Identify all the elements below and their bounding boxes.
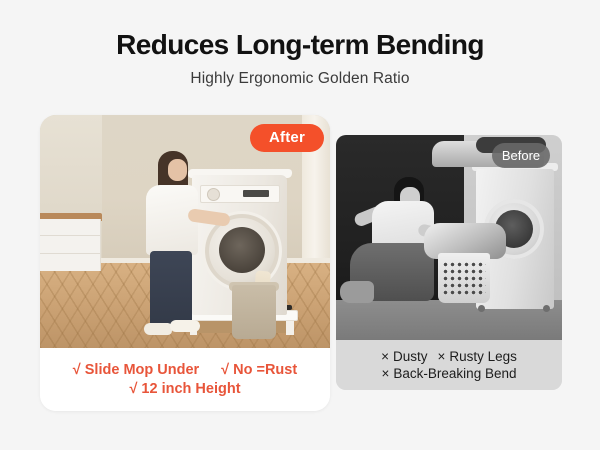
person-shoe (340, 281, 374, 303)
after-badge: After (250, 124, 324, 152)
cabinet-seam (40, 235, 100, 236)
page-title: Reduces Long-term Bending (0, 28, 600, 62)
rusty-leg-left (478, 305, 485, 312)
before-drawback-3: Back-Breaking Bend (393, 366, 516, 381)
cross-icon: × (437, 349, 445, 364)
rusty-leg-right (543, 305, 550, 312)
dial-knob (207, 188, 220, 201)
before-drawback-1: Dusty (393, 349, 428, 364)
after-caption-line-1: √ Slide Mop Under √ No =Rust (73, 362, 297, 378)
washer-drum (219, 227, 265, 273)
laundry-basket (232, 285, 276, 339)
person-face (168, 159, 187, 181)
person-pants (150, 251, 192, 327)
after-card: √ Slide Mop Under √ No =Rust √ 12 inch H… (40, 115, 330, 411)
kitchen-cabinet (40, 219, 101, 271)
before-badge: Before (492, 143, 550, 168)
cross-icon: × (382, 366, 390, 381)
person-shoe-left (144, 323, 172, 335)
after-benefit-1: Slide Mop Under (85, 362, 199, 378)
cabinet-seam (40, 253, 100, 254)
check-icon: √ (129, 381, 137, 397)
before-caption-line-1: × Dusty × Rusty Legs (381, 349, 517, 364)
check-icon: √ (73, 362, 81, 378)
person-shoe-right (170, 320, 200, 332)
basket-perforations (442, 261, 486, 295)
control-panel (200, 185, 280, 203)
after-benefit-2: No =Rust (233, 362, 297, 378)
before-caption-line-2: × Back-Breaking Bend (382, 366, 517, 381)
check-icon: √ (221, 362, 229, 378)
header: Reduces Long-term Bending Highly Ergonom… (0, 28, 600, 89)
before-card: × Dusty × Rusty Legs × Back-Breaking Ben… (336, 135, 562, 390)
before-caption: × Dusty × Rusty Legs × Back-Breaking Ben… (336, 340, 562, 390)
laundry-basket (438, 253, 490, 303)
cross-icon: × (381, 349, 389, 364)
before-drawback-2: Rusty Legs (449, 349, 517, 364)
product-feature-banner: Reduces Long-term Bending Highly Ergonom… (0, 0, 600, 450)
page-subtitle: Highly Ergonomic Golden Ratio (0, 69, 600, 89)
after-benefit-3: 12 inch Height (141, 381, 240, 397)
after-caption: √ Slide Mop Under √ No =Rust √ 12 inch H… (40, 348, 330, 411)
display-screen (243, 190, 269, 197)
stand-leg-right (286, 319, 294, 335)
after-caption-line-2: √ 12 inch Height (129, 381, 240, 397)
